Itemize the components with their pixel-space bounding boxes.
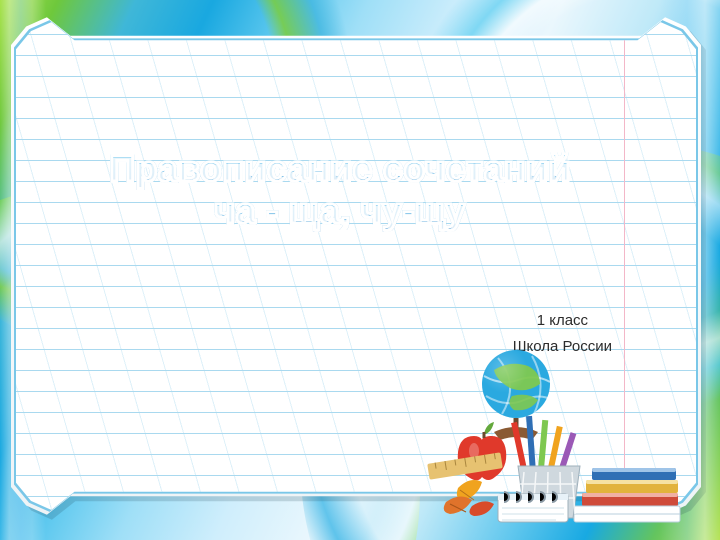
school-supplies-illustration	[424, 336, 684, 526]
title-line-2: ча - ща, чу-щу	[40, 190, 640, 232]
subtitle-line-grade: 1 класс	[513, 308, 612, 334]
slide-title: Правописание сочетаний ча - ща, чу-щу	[40, 148, 640, 232]
books-icon	[574, 468, 680, 522]
title-line-1: Правописание сочетаний	[40, 148, 640, 190]
autumn-leaves-icon	[444, 480, 494, 516]
slide: Правописание сочетаний ча - ща, чу-щу 1 …	[0, 0, 720, 540]
notebook-icon	[498, 492, 568, 522]
